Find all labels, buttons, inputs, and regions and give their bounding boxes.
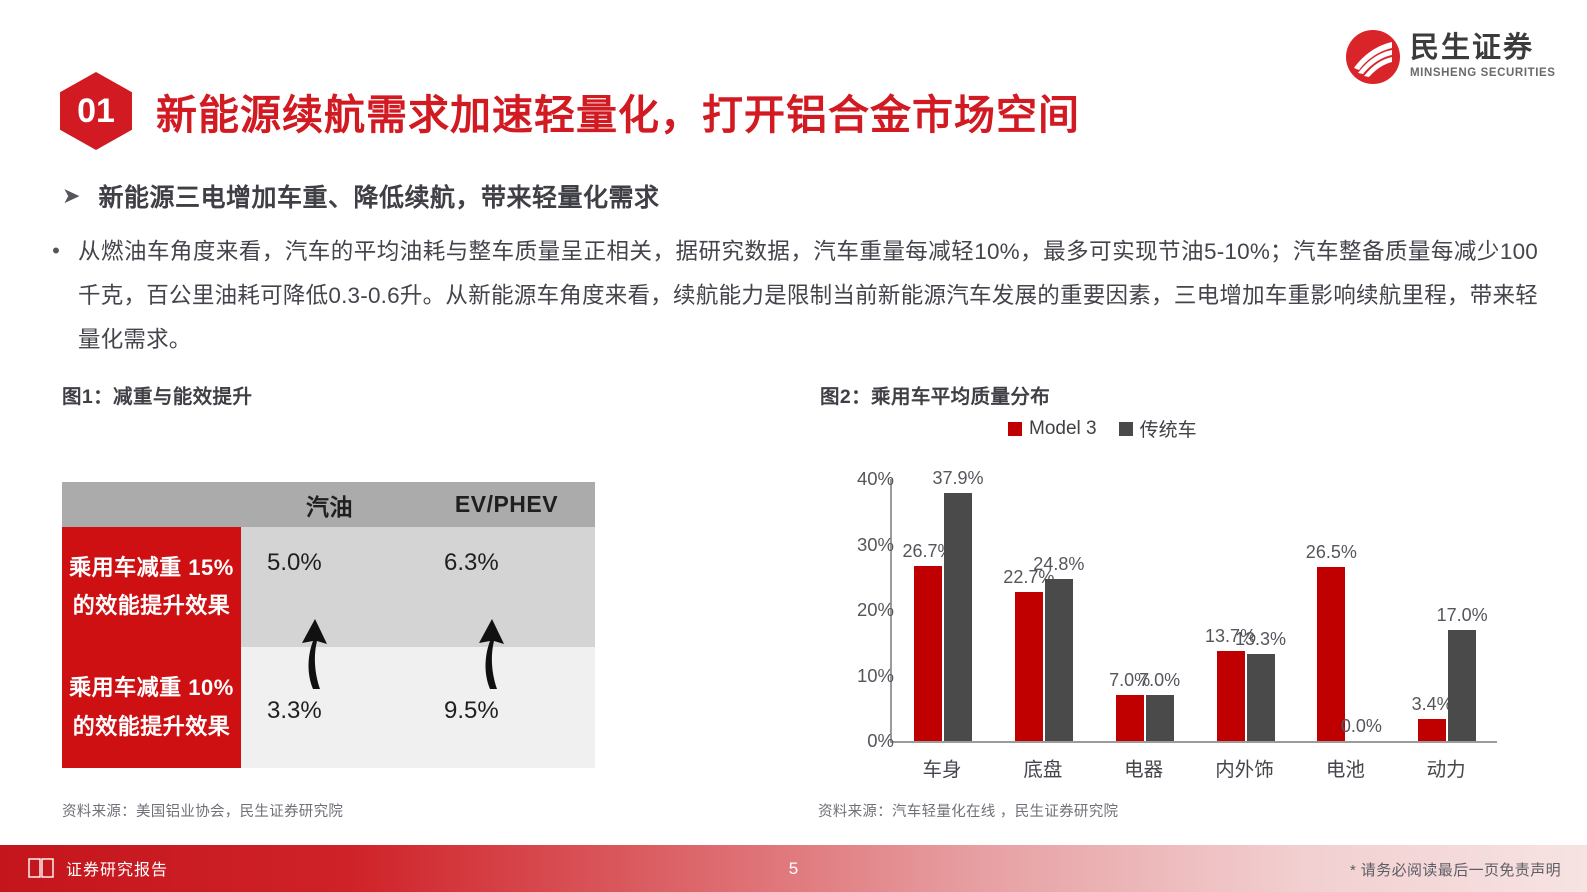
bar-group: 26.5%0.0% bbox=[1295, 479, 1396, 741]
section-number-badge: 01 bbox=[60, 72, 132, 150]
table-row-header-15: 乘用车减重 15% 的效能提升效果 bbox=[62, 527, 241, 647]
minsheng-swoosh-icon bbox=[1346, 30, 1400, 84]
bar-traditional bbox=[1045, 579, 1073, 741]
bar-group: 7.0%7.0% bbox=[1094, 479, 1195, 741]
table-cell-value: 9.5% bbox=[444, 697, 499, 725]
figure2-source: 资料来源：汽车轻量化在线 ，民生证券研究院 bbox=[818, 800, 1118, 821]
legend-item-1: Model 3 bbox=[1008, 418, 1097, 440]
bar-model3 bbox=[1418, 719, 1446, 741]
page-number: 5 bbox=[789, 859, 798, 879]
slide-page: 民生证券 MINSHENG SECURITIES 01 新能源续航需求加速轻量化… bbox=[0, 0, 1587, 892]
figure1-source: 资料来源：美国铝业协会，民生证券研究院 bbox=[62, 800, 343, 821]
table-col-header-gasoline: 汽油 bbox=[241, 482, 418, 527]
body-text: 从燃油车角度来看，汽车的平均油耗与整车质量呈正相关，据研究数据，汽车重量每减轻1… bbox=[78, 230, 1538, 362]
table-cell-value: 5.0% bbox=[267, 549, 322, 577]
subheading-label: 新能源三电增加车重、降低续航，带来轻量化需求 bbox=[98, 178, 659, 214]
bar-traditional bbox=[1247, 654, 1275, 741]
table-cell: 5.0% bbox=[241, 527, 418, 647]
legend-swatch-icon bbox=[1119, 422, 1133, 436]
bar-model3 bbox=[1317, 567, 1345, 741]
footer-bar: 证券研究报告 5 * 请务必阅读最后一页免责声明 bbox=[0, 845, 1587, 892]
figure1-table: 汽油 EV/PHEV 乘用车减重 15% 的效能提升效果 5.0% 6.3% 乘… bbox=[62, 482, 595, 768]
table-row-header-line1: 乘用车减重 15% bbox=[69, 549, 234, 588]
chevron-right-icon: ➤ bbox=[62, 185, 80, 207]
bullet-icon: • bbox=[48, 230, 64, 362]
y-axis-tick-label: 0% bbox=[867, 730, 894, 752]
table-corner-cell bbox=[62, 482, 241, 527]
x-axis-tick-label: 电器 bbox=[1124, 753, 1163, 782]
bar-model3 bbox=[1116, 695, 1144, 741]
footer-brand: 证券研究报告 bbox=[28, 856, 168, 880]
section-number-label: 01 bbox=[77, 92, 115, 131]
bar-traditional bbox=[944, 493, 972, 741]
figure1-caption: 图1：减重与能效提升 bbox=[62, 380, 252, 409]
bar-value-label: 17.0% bbox=[1437, 605, 1488, 626]
chart-plot-area: 26.7%37.9%22.7%24.8%7.0%7.0%13.7%13.3%26… bbox=[818, 451, 1518, 775]
arrow-up-icon bbox=[293, 617, 333, 689]
bar-value-label: 0.0% bbox=[1341, 716, 1382, 737]
bar-group: 26.7%37.9% bbox=[892, 479, 993, 741]
x-axis-tick-label: 车身 bbox=[922, 753, 961, 782]
y-axis-tick-label: 30% bbox=[857, 534, 894, 556]
bar-value-label: 37.9% bbox=[932, 468, 983, 489]
x-axis-tick-label: 电池 bbox=[1326, 753, 1365, 782]
bar-group: 13.7%13.3% bbox=[1195, 479, 1296, 741]
subheading: ➤ 新能源三电增加车重、降低续航，带来轻量化需求 bbox=[62, 178, 659, 214]
logo-text: 民生证券 MINSHENG SECURITIES bbox=[1410, 33, 1556, 82]
book-icon bbox=[28, 858, 54, 878]
table-cell-value: 3.3% bbox=[267, 697, 322, 725]
y-axis-tick-label: 20% bbox=[857, 599, 894, 621]
logo-name-en: MINSHENG SECURITIES bbox=[1410, 65, 1556, 81]
legend-item-2: 传统车 bbox=[1119, 415, 1197, 442]
x-axis-tick-label: 内外饰 bbox=[1215, 753, 1274, 782]
bar-traditional bbox=[1448, 630, 1476, 741]
legend-label: Model 3 bbox=[1029, 418, 1097, 440]
x-axis-tick-label: 底盘 bbox=[1023, 753, 1062, 782]
bar-value-label: 3.4% bbox=[1412, 694, 1453, 715]
footer-label: 证券研究报告 bbox=[66, 856, 168, 880]
y-axis-tick-label: 10% bbox=[857, 665, 894, 687]
x-axis-tick-label: 动力 bbox=[1427, 753, 1466, 782]
footer-disclaimer: * 请务必阅读最后一页免责声明 bbox=[1350, 859, 1561, 880]
figure2-caption: 图2：乘用车平均质量分布 bbox=[820, 380, 1050, 409]
logo-name-cn: 民生证券 bbox=[1410, 33, 1556, 63]
bar-value-label: 7.0% bbox=[1139, 670, 1180, 691]
x-axis-line bbox=[890, 741, 1497, 743]
company-logo: 民生证券 MINSHENG SECURITIES bbox=[1346, 30, 1556, 84]
arrow-up-icon bbox=[470, 617, 510, 689]
legend-swatch-icon bbox=[1008, 422, 1022, 436]
bar-value-label: 13.3% bbox=[1235, 629, 1286, 650]
y-axis-tick-label: 40% bbox=[857, 468, 894, 490]
table-row-header-10: 乘用车减重 10% 的效能提升效果 bbox=[62, 647, 241, 768]
table-row-header-line2: 的效能提升效果 bbox=[73, 708, 231, 747]
table-col-header-evphev: EV/PHEV bbox=[418, 482, 595, 527]
page-title: 新能源续航需求加速轻量化，打开铝合金市场空间 bbox=[156, 81, 1080, 141]
bar-group: 3.4%17.0% bbox=[1396, 479, 1497, 741]
bar-traditional bbox=[1146, 695, 1174, 741]
body-paragraph: • 从燃油车角度来看，汽车的平均油耗与整车质量呈正相关，据研究数据，汽车重量每减… bbox=[48, 230, 1538, 362]
bar-model3 bbox=[914, 566, 942, 741]
table-cell: 6.3% bbox=[418, 527, 595, 647]
bar-model3 bbox=[1015, 592, 1043, 741]
legend-label: 传统车 bbox=[1140, 415, 1197, 442]
table-col-header-label: EV/PHEV bbox=[455, 491, 558, 518]
table-row-header-line2: 的效能提升效果 bbox=[73, 587, 231, 626]
chart-legend: Model 3传统车 bbox=[1008, 415, 1197, 442]
figure2-chart: Model 3传统车 26.7%37.9%22.7%24.8%7.0%7.0%1… bbox=[818, 415, 1518, 775]
bar-group: 22.7%24.8% bbox=[993, 479, 1094, 741]
section-title-row: 01 新能源续航需求加速轻量化，打开铝合金市场空间 bbox=[60, 72, 1080, 150]
table-row-header-line1: 乘用车减重 10% bbox=[69, 669, 234, 708]
bar-model3 bbox=[1217, 651, 1245, 741]
bar-value-label: 26.5% bbox=[1306, 542, 1357, 563]
chart-bars: 26.7%37.9%22.7%24.8%7.0%7.0%13.7%13.3%26… bbox=[892, 479, 1497, 741]
bar-value-label: 24.8% bbox=[1033, 554, 1084, 575]
table-cell-value: 6.3% bbox=[444, 549, 499, 577]
table-col-header-label: 汽油 bbox=[306, 488, 353, 522]
